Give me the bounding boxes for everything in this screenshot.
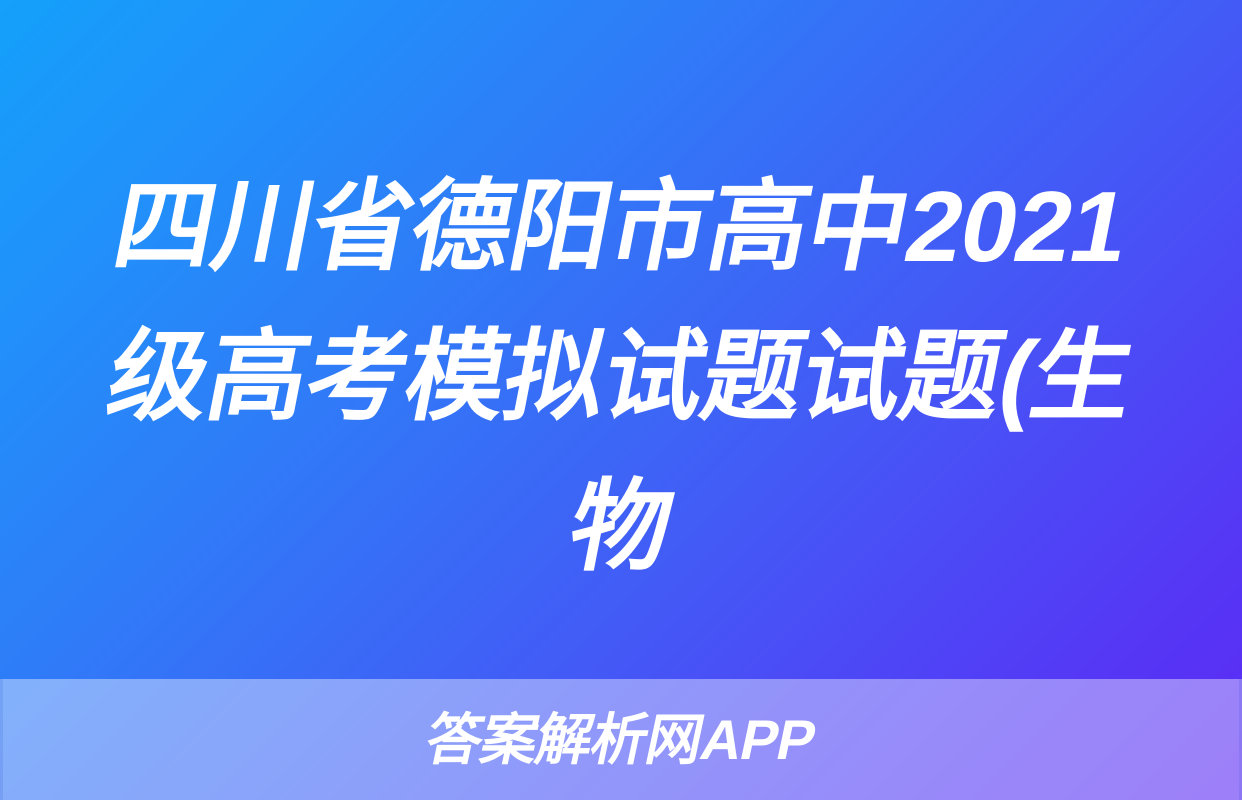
title-line-3: 物 [31, 452, 1210, 602]
watermark-banner: 答案解析网APP [0, 679, 1242, 800]
page-title: 四川省德阳市高中2021 级高考模拟试题试题(生 物 [0, 152, 1242, 602]
title-line-1: 四川省德阳市高中2021 [31, 152, 1210, 302]
watermark-brand-label: 答案解析网APP [421, 712, 820, 768]
exam-title-card: 四川省德阳市高中2021 级高考模拟试题试题(生 物 答案解析网APP [0, 0, 1242, 800]
title-line-2: 级高考模拟试题试题(生 [31, 302, 1210, 452]
